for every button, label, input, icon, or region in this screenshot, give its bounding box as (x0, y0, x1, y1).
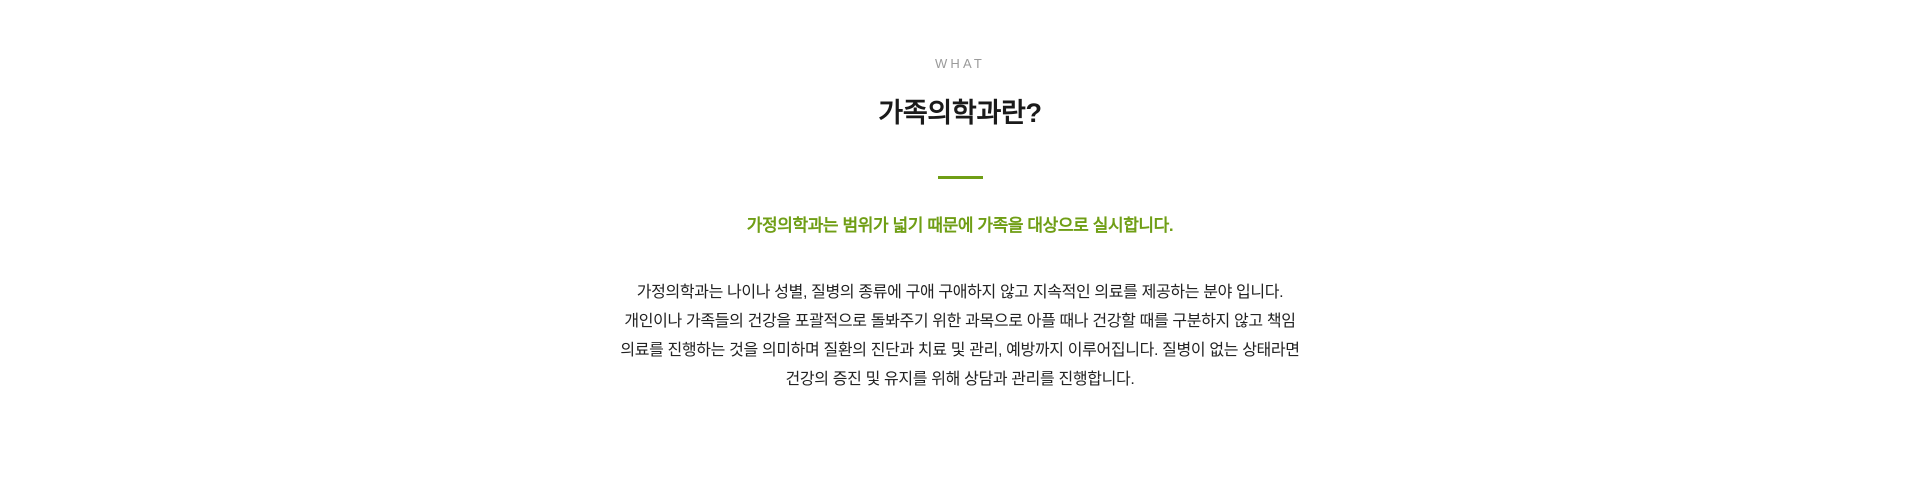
section-body-text: 가정의학과는 나이나 성별, 질병의 종류에 구애 구애하지 않고 지속적인 의… (620, 278, 1299, 394)
body-line: 가정의학과는 나이나 성별, 질병의 종류에 구애 구애하지 않고 지속적인 의… (620, 278, 1299, 307)
body-line: 건강의 증진 및 유지를 위해 상담과 관리를 진행합니다. (620, 365, 1299, 394)
body-line: 의료를 진행하는 것을 의미하며 질환의 진단과 치료 및 관리, 예방까지 이… (620, 336, 1299, 365)
page-title: 가족의학과란? (878, 95, 1041, 131)
title-divider (938, 171, 983, 183)
divider-line (938, 176, 983, 179)
section-lead-text: 가정의학과는 범위가 넓기 때문에 가족을 대상으로 실시합니다. (747, 213, 1174, 239)
body-line: 개인이나 가족들의 건강을 포괄적으로 돌봐주기 위한 과목으로 아플 때나 건… (620, 307, 1299, 336)
section-eyebrow-label: WHAT (935, 54, 985, 74)
what-section: WHAT 가족의학과란? 가정의학과는 범위가 넓기 때문에 가족을 대상으로 … (0, 0, 1920, 480)
